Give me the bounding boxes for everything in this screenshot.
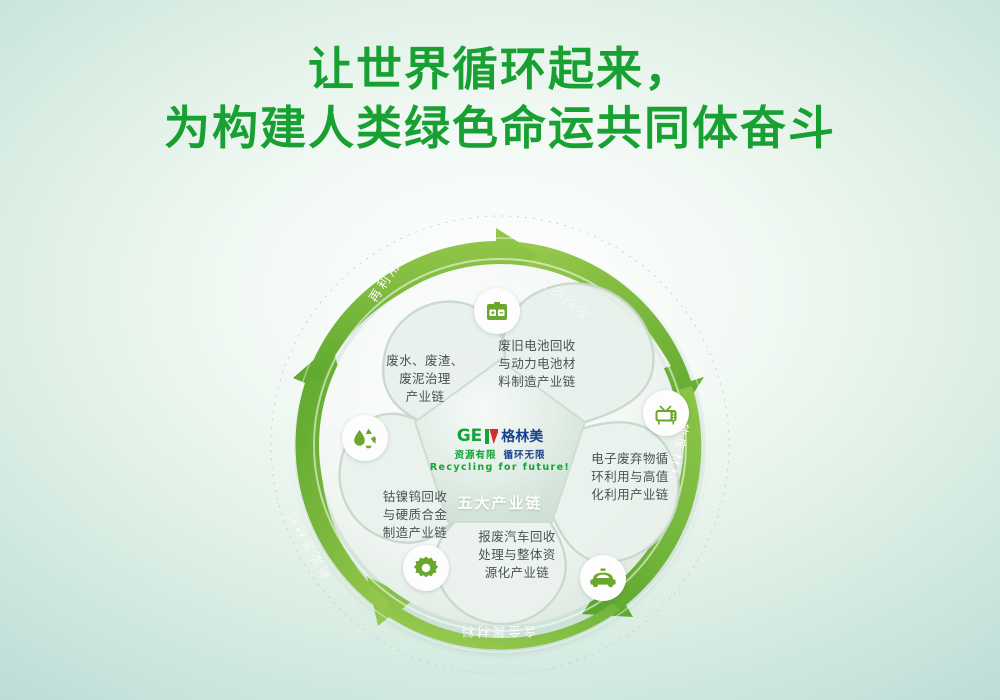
logo-slogan: 资源有限 循环无限 [425,447,575,461]
water-recycle-icon [351,425,379,451]
logo-chinese-name: 格林美 [501,428,543,445]
segment-label-auto: 报废汽车回收 处理与整体资 源化产业链 [467,528,567,582]
tv-icon [653,401,679,426]
segment-label-waste-water: 废水、废渣、 废泥治理 产业链 [375,352,475,406]
segment-label-e-waste: 电子废弃物循 环利用与高值 化利用产业链 [580,450,680,504]
segment-label-battery: 废旧电池回收 与动力电池材 料制造产业链 [487,337,587,391]
battery-icon [484,299,510,323]
car-icon-bubble[interactable] [580,555,626,601]
gem-logo: GE 格林美 资源有限 循环无限 Recycling for future! [425,428,575,473]
gear-icon [413,555,439,581]
logo-wordmark-row: GE 格林美 [425,428,575,445]
title-line-2: 为构建人类绿色命运共同体奋斗 [0,99,1000,158]
tv-icon-bubble[interactable] [643,390,689,436]
logo-m-mark [485,429,498,444]
center-caption: 五大产业链 [425,492,575,513]
page-title: 让世界循环起来， 为构建人类绿色命运共同体奋斗 [0,40,1000,158]
gear-icon-bubble[interactable] [403,545,449,591]
ring-label-metal-material: 含金属材料 [458,623,536,642]
logo-slogan-left: 资源有限 [454,447,496,461]
logo-slogan-right: 循环无限 [504,447,546,461]
title-line-1: 让世界循环起来， [0,40,1000,99]
logo-latin-text: GE [457,428,483,445]
car-icon [589,567,617,589]
battery-icon-bubble[interactable] [474,288,520,334]
water-recycle-icon-bubble[interactable] [342,415,388,461]
recycling-cycle-diagram: 废品回收 再利用 放废材料 含金属材料 新能源材料 废旧电池回收 与动力电池材 … [255,210,745,680]
logo-slogan-english: Recycling for future! [425,462,575,473]
